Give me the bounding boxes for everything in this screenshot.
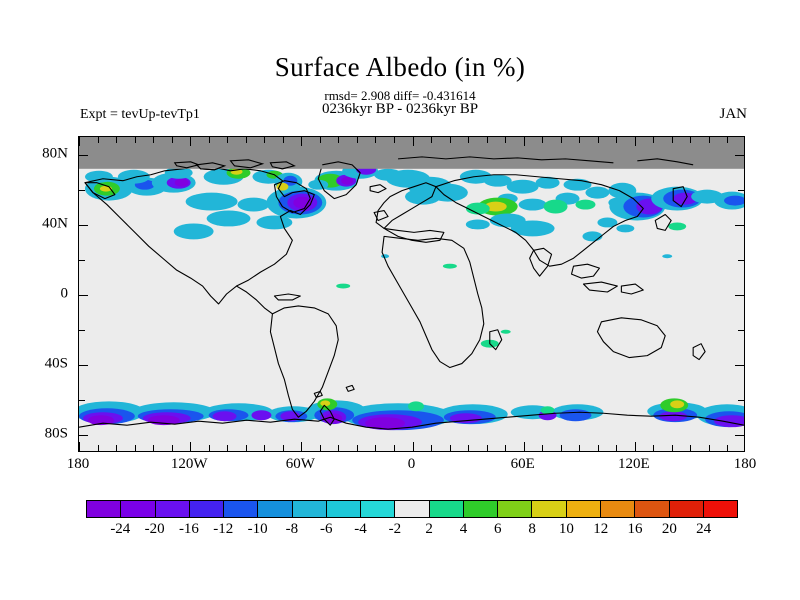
y-tick	[79, 365, 88, 366]
y-axis-label: 40N	[0, 215, 68, 232]
x-axis-label: 60E	[511, 456, 535, 473]
colorbar-swatch	[326, 501, 360, 517]
colorbar-label: -20	[145, 521, 165, 538]
x-tick	[727, 137, 728, 143]
colorbar-swatch	[360, 501, 394, 517]
colorbar-label: -24	[110, 521, 130, 538]
x-axis-label: 120W	[171, 456, 208, 473]
colorbar-swatch	[600, 501, 634, 517]
x-tick	[246, 137, 247, 143]
y-tick	[79, 435, 88, 436]
x-tick	[227, 445, 228, 451]
x-tick	[153, 137, 154, 143]
map-plot-area	[78, 136, 745, 452]
x-tick	[635, 137, 636, 146]
x-tick	[283, 445, 284, 451]
y-tick	[735, 295, 744, 296]
x-tick	[209, 445, 210, 451]
x-tick	[301, 137, 302, 146]
x-axis-label: 180	[67, 456, 90, 473]
x-tick	[542, 445, 543, 451]
x-tick	[690, 137, 691, 143]
colorbar-swatch	[463, 501, 497, 517]
colorbar-label: 24	[696, 521, 711, 538]
colorbar-label: -10	[248, 521, 268, 538]
x-axis-label: 180	[734, 456, 757, 473]
x-tick	[450, 445, 451, 451]
x-tick	[672, 137, 673, 143]
x-tick	[190, 442, 191, 451]
x-tick	[468, 445, 469, 451]
x-tick	[524, 137, 525, 146]
colorbar-swatch	[292, 501, 326, 517]
y-tick	[735, 365, 744, 366]
x-tick	[561, 137, 562, 143]
y-tick	[738, 260, 744, 261]
x-tick	[413, 137, 414, 146]
x-tick	[246, 445, 247, 451]
x-tick	[172, 445, 173, 451]
x-tick	[690, 445, 691, 451]
colorbar-swatch	[497, 501, 531, 517]
x-tick	[727, 445, 728, 451]
x-axis-label: 0	[408, 456, 416, 473]
y-tick	[735, 155, 744, 156]
x-tick	[135, 445, 136, 451]
colorbar-label: -8	[286, 521, 299, 538]
x-tick	[561, 445, 562, 451]
x-tick	[431, 137, 432, 143]
colorbar-label: 12	[593, 521, 608, 538]
colorbar-swatch	[669, 501, 703, 517]
x-tick	[283, 137, 284, 143]
x-axis-label: 120E	[618, 456, 650, 473]
colorbar-label: -2	[389, 521, 402, 538]
x-tick	[505, 445, 506, 451]
x-tick	[227, 137, 228, 143]
colorbar-swatch	[634, 501, 668, 517]
x-tick	[98, 137, 99, 143]
x-tick	[635, 442, 636, 451]
colorbar-label: 2	[425, 521, 433, 538]
x-tick	[616, 445, 617, 451]
x-tick	[450, 137, 451, 143]
polar-mask	[79, 137, 744, 169]
x-tick	[135, 137, 136, 143]
y-axis-label: 80N	[0, 145, 68, 162]
y-tick	[79, 295, 88, 296]
colorbar	[86, 500, 738, 518]
x-tick	[579, 445, 580, 451]
x-tick	[264, 137, 265, 143]
experiment-label: Expt = tevUp-tevTp1	[80, 107, 200, 123]
x-tick	[468, 137, 469, 143]
x-tick	[320, 445, 321, 451]
y-tick	[738, 190, 744, 191]
colorbar-swatch	[120, 501, 154, 517]
x-tick	[172, 137, 173, 143]
x-tick	[394, 137, 395, 143]
y-tick	[79, 400, 85, 401]
y-axis-label: 0	[0, 286, 68, 303]
y-tick	[735, 435, 744, 436]
x-tick	[653, 137, 654, 143]
x-tick	[598, 137, 599, 143]
x-tick	[375, 137, 376, 143]
albedo-anomaly-map	[79, 137, 744, 451]
colorbar-swatch	[394, 501, 428, 517]
x-tick	[357, 137, 358, 143]
x-tick	[79, 442, 80, 451]
x-tick	[505, 137, 506, 143]
y-tick	[79, 225, 88, 226]
x-tick	[413, 442, 414, 451]
colorbar-label: -4	[354, 521, 367, 538]
y-tick	[738, 330, 744, 331]
y-tick	[735, 225, 744, 226]
y-tick	[738, 400, 744, 401]
x-tick	[487, 445, 488, 451]
colorbar-swatch	[531, 501, 565, 517]
x-tick	[375, 445, 376, 451]
colorbar-swatch	[429, 501, 463, 517]
y-tick	[79, 190, 85, 191]
colorbar-label: -6	[320, 521, 333, 538]
colorbar-label: 6	[494, 521, 502, 538]
x-tick	[301, 442, 302, 451]
colorbar-label: -12	[213, 521, 233, 538]
x-tick	[116, 137, 117, 143]
colorbar-swatch	[155, 501, 189, 517]
y-axis-label: 80S	[0, 426, 68, 443]
x-tick	[598, 445, 599, 451]
y-tick	[79, 260, 85, 261]
x-tick	[209, 137, 210, 143]
x-tick	[709, 137, 710, 143]
colorbar-label: 8	[528, 521, 536, 538]
x-tick	[394, 445, 395, 451]
x-tick	[542, 137, 543, 143]
x-tick	[79, 137, 80, 146]
x-tick	[320, 137, 321, 143]
x-tick	[672, 445, 673, 451]
x-tick	[524, 442, 525, 451]
x-tick	[616, 137, 617, 143]
colorbar-swatch	[223, 501, 257, 517]
colorbar-label: 16	[628, 521, 643, 538]
x-tick	[487, 137, 488, 143]
y-tick	[79, 330, 85, 331]
x-axis-label: 60W	[286, 456, 315, 473]
x-tick	[190, 137, 191, 146]
x-tick	[338, 445, 339, 451]
x-tick	[116, 445, 117, 451]
y-tick	[79, 155, 88, 156]
page-title: Surface Albedo (in %)	[0, 52, 800, 83]
month-label: JAN	[719, 106, 747, 123]
x-tick	[264, 445, 265, 451]
colorbar-swatch	[257, 501, 291, 517]
colorbar-swatch	[566, 501, 600, 517]
y-axis-label: 40S	[0, 356, 68, 373]
x-tick	[579, 137, 580, 143]
colorbar-label: 4	[460, 521, 468, 538]
colorbar-label: 20	[662, 521, 677, 538]
colorbar-label: 10	[559, 521, 574, 538]
colorbar-label: -16	[179, 521, 199, 538]
x-tick	[653, 445, 654, 451]
colorbar-swatches	[86, 500, 738, 518]
colorbar-swatch	[87, 501, 120, 517]
colorbar-swatch	[189, 501, 223, 517]
x-tick	[357, 445, 358, 451]
colorbar-swatch	[703, 501, 737, 517]
x-tick	[338, 137, 339, 143]
x-tick	[709, 445, 710, 451]
x-tick	[153, 445, 154, 451]
x-tick	[431, 445, 432, 451]
x-tick	[98, 445, 99, 451]
